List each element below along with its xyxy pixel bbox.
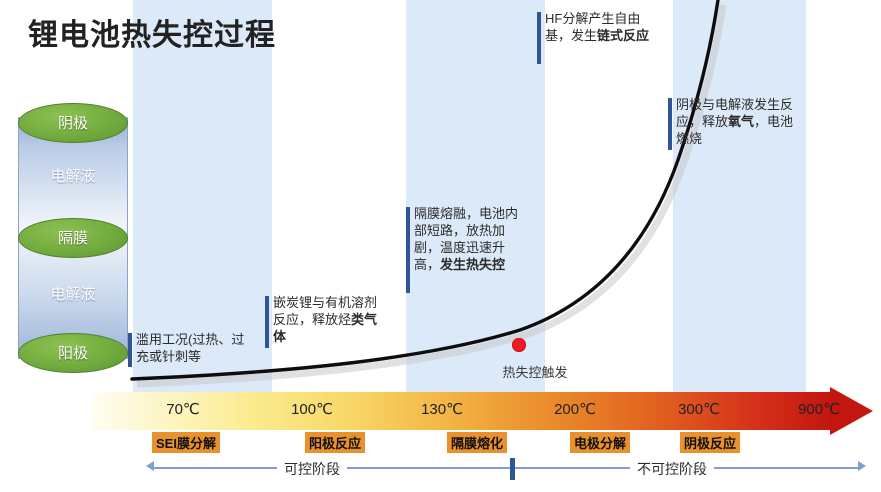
stage-label-separator-melting: 隔膜熔化: [447, 432, 507, 453]
callout-separator-melt: 隔膜熔融，电池内部短路，放热加剧，温度迅速升高，发生热失控: [406, 205, 530, 273]
callout-line-bold: 链式反: [597, 28, 636, 43]
page-title: 锂电池热失控过程: [28, 10, 276, 54]
callout-accent-bar: [406, 207, 410, 293]
callout-abuse-text: 滥用工况(过热、过充或针刺等: [136, 331, 246, 365]
temp-tick-300: 300℃: [654, 400, 744, 418]
callout-hf-chain-reaction: HF分解产生自由基，发生链式反应: [537, 10, 665, 44]
callout-line-bold: 气: [741, 114, 754, 129]
battery-diagram: 电解液 电解液 阴极 隔膜 阳极: [18, 103, 128, 373]
callout-sei-decomposition: 嵌炭锂与有机溶剂反应，释放烃类气体: [265, 294, 385, 345]
temp-tick-130: 130℃: [397, 400, 487, 418]
callout-accent-bar: [265, 296, 269, 348]
callout-line: 阴极与电解液发: [676, 97, 767, 112]
battery-layer-anode: 阳极: [18, 333, 128, 373]
stage-label-sei-film-decomposition: SEI膜分解: [152, 432, 220, 453]
temperature-axis: 70℃ 100℃ 130℃ 200℃ 300℃ 900℃: [92, 392, 881, 430]
callout-hf-text: HF分解产生自由基，发生链式反应: [545, 10, 665, 44]
stage-label-cathode-reaction: 阴极反应: [680, 432, 740, 453]
callout-line-bold: 控: [492, 257, 505, 272]
callout-accent-bar: [128, 333, 132, 367]
callout-line-bold: 氧: [728, 114, 741, 129]
temp-tick-100: 100℃: [267, 400, 357, 418]
phase-axis-arrow-left: [146, 461, 154, 471]
callout-abuse-condition: 滥用工况(过热、过充或针刺等: [128, 331, 246, 365]
callout-line: 隔膜熔融，电池: [414, 206, 505, 221]
phase-axis-arrow-right: [858, 461, 866, 471]
callout-cathode-text: 阴极与电解液发生反应，释放氧气，电池燃烧: [676, 96, 804, 147]
callout-line: 滥用工况(过热、: [136, 332, 231, 347]
battery-layer-separator: 隔膜: [18, 218, 128, 258]
diagram-canvas: 锂电池热失控过程 电解液 电解液 阴极 隔膜 阳极 热失控触发 滥用工况(过热、…: [0, 0, 881, 492]
callout-line: 嵌炭锂与有机溶: [273, 295, 364, 310]
phase-label-uncontrollable: 不可控阶段: [630, 459, 714, 479]
callout-cathode-oxygen: 阴极与电解液发生反应，释放氧气，电池燃烧: [668, 96, 804, 147]
callout-line: 基，发生: [545, 28, 597, 43]
callout-line: HF分解产生自由: [545, 11, 640, 26]
temp-tick-200: 200℃: [530, 400, 620, 418]
stage-label-anode-reaction: 阳极反应: [305, 432, 365, 453]
callout-sei-text: 嵌炭锂与有机溶剂反应，释放烃类气体: [273, 294, 385, 345]
battery-layer-electrolyte-top: 电解液: [18, 165, 128, 186]
battery-layer-electrolyte-bottom: 电解液: [18, 283, 128, 304]
phase-axis: 可控阶段 不可控阶段: [0, 456, 881, 490]
callout-separator-text: 隔膜熔融，电池内部短路，放热加剧，温度迅速升高，发生热失控: [414, 205, 530, 273]
phase-label-controllable: 可控阶段: [277, 459, 347, 479]
stage-label-electrode-decomposition: 电极分解: [570, 432, 630, 453]
temp-tick-900: 900℃: [774, 400, 864, 418]
callout-accent-bar: [537, 12, 541, 64]
battery-layer-cathode: 阴极: [18, 103, 128, 143]
thermal-runaway-trigger-label: 热失控触发: [480, 362, 590, 381]
temp-tick-70: 70℃: [138, 400, 228, 418]
phase-axis-divider: [510, 458, 515, 480]
callout-line-bold: 应: [636, 28, 649, 43]
callout-accent-bar: [668, 98, 672, 150]
callout-line-bold: 发生热失: [440, 257, 492, 272]
thermal-runaway-trigger-dot: [512, 338, 526, 352]
